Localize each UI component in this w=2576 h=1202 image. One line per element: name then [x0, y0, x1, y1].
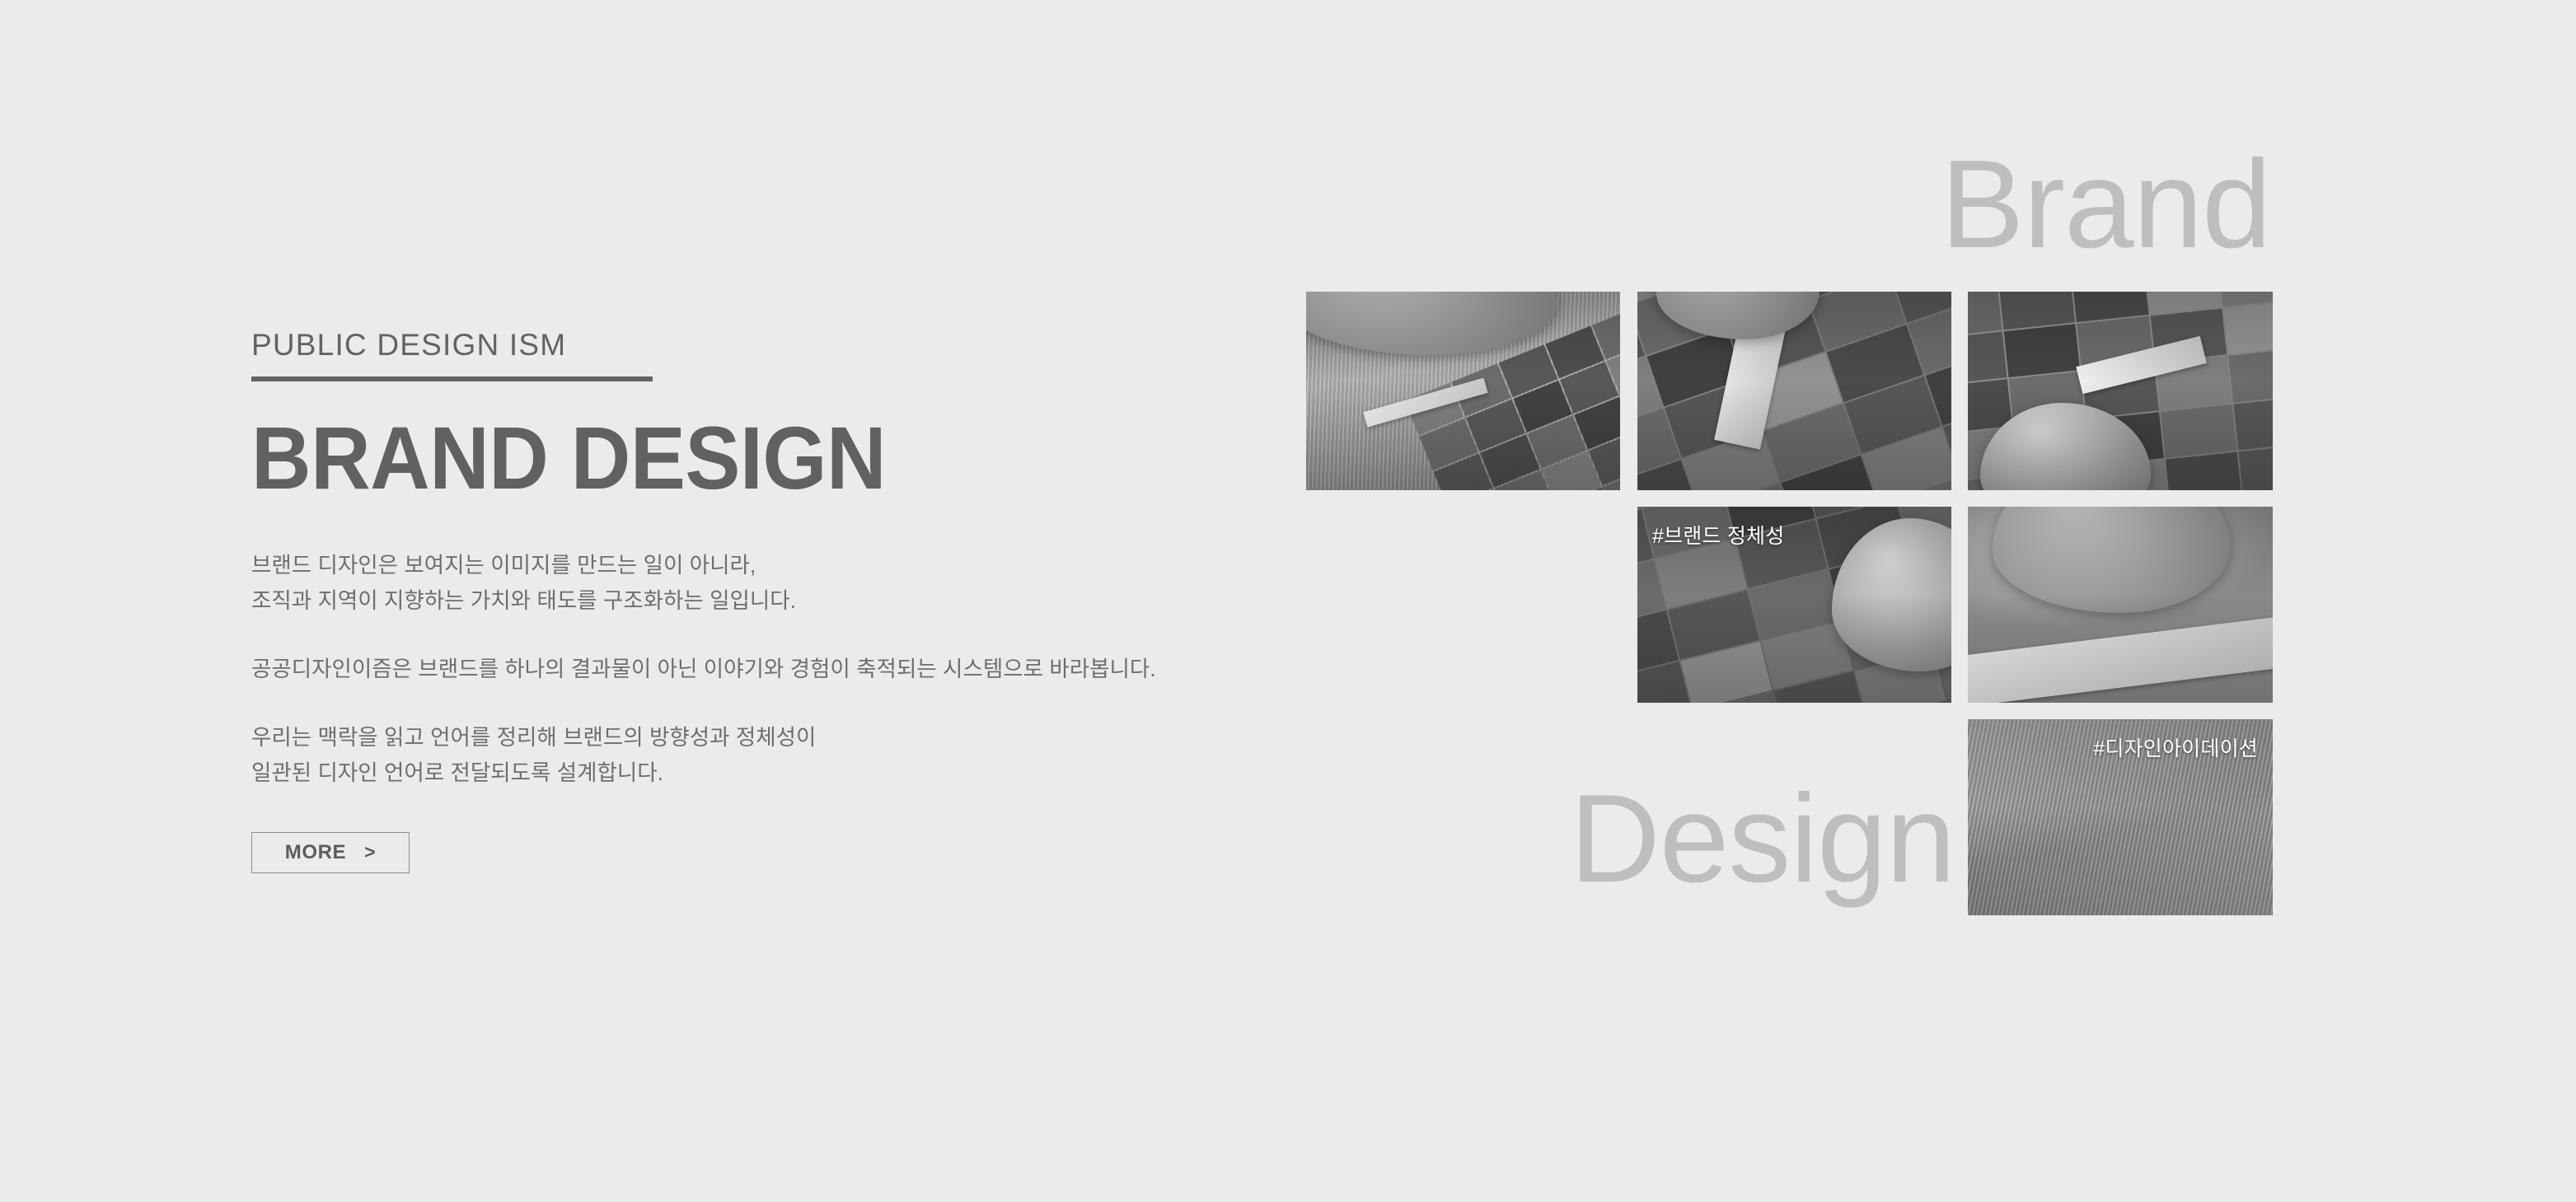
gallery-photo-1[interactable] [1306, 292, 1620, 490]
gallery-photo-6[interactable]: #디자인아이데이션 [1968, 719, 2273, 915]
watermark-design: Design [1570, 776, 1955, 901]
photo-5-vignette [1968, 507, 2273, 703]
more-button[interactable]: MORE > [251, 832, 410, 873]
hero-description: 브랜드 디자인은 보여지는 이미지를 만드는 일이 아니라,조직과 지역이 지향… [251, 548, 1158, 791]
photo-1-vignette [1306, 292, 1620, 490]
page-title: BRAND DESIGN [251, 413, 1094, 503]
photo-6-tag: #디자인아이데이션 [2093, 732, 2258, 762]
gallery-photo-5[interactable] [1968, 507, 2273, 703]
photo-2-vignette [1637, 292, 1951, 490]
gallery-photo-3[interactable] [1968, 292, 2273, 490]
chevron-right-icon: > [364, 843, 376, 862]
paragraph-2: 공공디자인이즘은 브랜드를 하나의 결과물이 아닌 이야기와 경험이 축적되는 … [251, 652, 1158, 687]
eyebrow-divider [251, 377, 653, 381]
photo-3-vignette [1968, 292, 2273, 490]
paragraph-3: 우리는 맥락을 읽고 언어를 정리해 브랜드의 방향성과 정체성이일관된 디자인… [251, 720, 1158, 791]
gallery-photo-4[interactable]: #브랜드 정체성 [1637, 507, 1951, 703]
paragraph-1: 브랜드 디자인은 보여지는 이미지를 만드는 일이 아니라,조직과 지역이 지향… [251, 548, 1158, 619]
more-button-label: MORE [285, 841, 346, 864]
hero-section: PUBLIC DESIGN ISM BRAND DESIGN 브랜드 디자인은 … [0, 0, 2576, 1202]
eyebrow-label: PUBLIC DESIGN ISM [251, 330, 1158, 360]
photo-4-tag: #브랜드 정체성 [1652, 520, 1784, 550]
watermark-brand: Brand [1941, 142, 2271, 267]
gallery-photo-2[interactable] [1637, 292, 1951, 490]
hero-text-column: PUBLIC DESIGN ISM BRAND DESIGN 브랜드 디자인은 … [251, 330, 1158, 873]
